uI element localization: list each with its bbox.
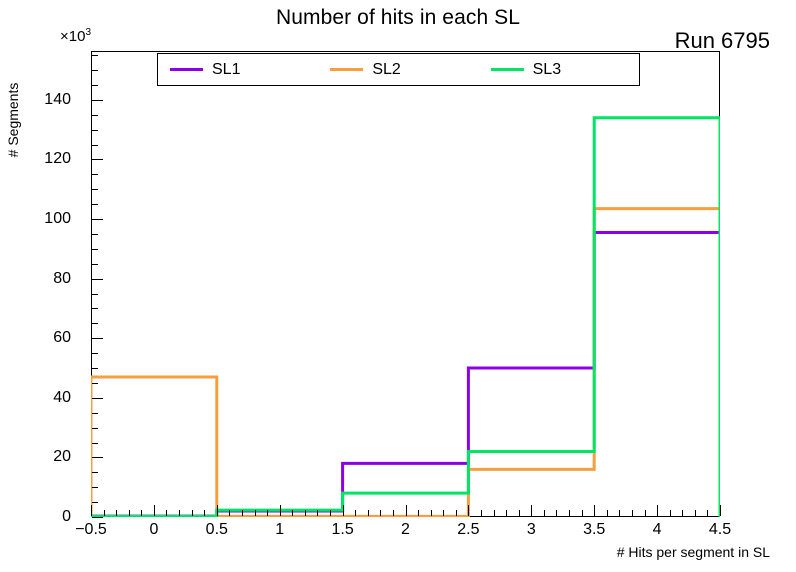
- y-axis-minor-tick: [92, 472, 98, 473]
- histogram-plot-area: [91, 51, 720, 517]
- x-axis-major-tick: [594, 505, 595, 516]
- y-axis-tick-label: 100: [44, 210, 71, 228]
- y-axis-tick-label: 120: [44, 150, 71, 168]
- y-axis-minor-tick: [92, 264, 98, 265]
- x-axis-tick-label: −0.5: [75, 521, 107, 539]
- y-axis-minor-tick: [92, 383, 98, 384]
- y-axis-major-tick: [92, 100, 103, 101]
- x-axis-minor-tick: [204, 510, 205, 516]
- x-axis-minor-tick: [267, 510, 268, 516]
- y-axis-major-tick: [92, 219, 103, 220]
- x-axis-major-tick: [406, 505, 407, 516]
- x-axis-major-tick: [343, 505, 344, 516]
- y-axis-minor-tick: [92, 502, 98, 503]
- y-axis-minor-tick: [92, 70, 98, 71]
- y-axis-tick-label: 60: [53, 329, 71, 347]
- y-axis-minor-tick: [92, 443, 98, 444]
- x-axis-major-tick: [720, 505, 721, 516]
- x-axis-minor-tick: [179, 510, 180, 516]
- x-axis-minor-tick: [141, 510, 142, 516]
- x-axis-minor-tick: [670, 510, 671, 516]
- x-axis-title: # Hits per segment in SL: [617, 544, 770, 560]
- x-axis-minor-tick: [707, 510, 708, 516]
- x-axis-minor-tick: [494, 510, 495, 516]
- x-axis-minor-tick: [192, 510, 193, 516]
- histogram-series-sl2: [91, 209, 720, 517]
- x-axis-minor-tick: [242, 510, 243, 516]
- x-axis-major-tick: [91, 505, 92, 516]
- x-axis-minor-tick: [582, 510, 583, 516]
- y-axis-exponent: ×103: [60, 27, 91, 45]
- x-axis-minor-tick: [317, 510, 318, 516]
- y-axis-minor-tick: [92, 85, 98, 86]
- x-axis-tick-label: 2.5: [457, 521, 479, 539]
- y-axis-minor-tick: [92, 353, 98, 354]
- x-axis-major-tick: [531, 505, 532, 516]
- y-axis-minor-tick: [92, 204, 98, 205]
- legend-entry-sl1[interactable]: SL1: [158, 62, 318, 78]
- x-axis-tick-label: 4: [653, 521, 662, 539]
- legend-entry-sl3[interactable]: SL3: [479, 62, 639, 78]
- y-axis-minor-tick: [92, 174, 98, 175]
- x-axis-tick-label: 2: [401, 521, 410, 539]
- legend-swatch-sl2: [330, 68, 363, 71]
- histogram-series-sl1: [91, 232, 720, 517]
- x-axis-major-tick: [657, 505, 658, 516]
- y-axis-exponent-base: ×10: [60, 28, 85, 45]
- y-axis-minor-tick: [92, 323, 98, 324]
- x-axis-minor-tick: [229, 510, 230, 516]
- x-axis-minor-tick: [632, 510, 633, 516]
- x-axis-minor-tick: [292, 510, 293, 516]
- y-axis-tick-label: 140: [44, 91, 71, 109]
- x-axis-minor-tick: [255, 510, 256, 516]
- y-axis-major-tick: [92, 517, 103, 518]
- x-axis-minor-tick: [355, 510, 356, 516]
- y-axis-minor-tick: [92, 115, 98, 116]
- y-axis-minor-tick: [92, 189, 98, 190]
- x-axis-minor-tick: [645, 510, 646, 516]
- y-axis-minor-tick: [92, 428, 98, 429]
- y-axis-minor-tick: [92, 130, 98, 131]
- y-axis-tick-label: 40: [53, 389, 71, 407]
- legend: SL1 SL2 SL3: [157, 53, 640, 86]
- y-axis-minor-tick: [92, 368, 98, 369]
- x-axis-major-tick: [280, 505, 281, 516]
- x-axis-minor-tick: [481, 510, 482, 516]
- x-axis-minor-tick: [695, 510, 696, 516]
- x-axis-minor-tick: [519, 510, 520, 516]
- x-axis-minor-tick: [619, 510, 620, 516]
- y-axis-minor-tick: [92, 234, 98, 235]
- x-axis-major-tick: [468, 505, 469, 516]
- y-axis-minor-tick: [92, 145, 98, 146]
- y-axis-minor-tick: [92, 294, 98, 295]
- x-axis-minor-tick: [456, 510, 457, 516]
- y-axis-minor-tick: [92, 308, 98, 309]
- histogram-series-sl3: [91, 118, 720, 517]
- x-axis-minor-tick: [305, 510, 306, 516]
- x-axis-minor-tick: [682, 510, 683, 516]
- x-axis-minor-tick: [544, 510, 545, 516]
- y-axis-minor-tick: [92, 413, 98, 414]
- x-axis-minor-tick: [443, 510, 444, 516]
- legend-label-sl3: SL3: [533, 62, 561, 78]
- y-axis-major-tick: [92, 457, 103, 458]
- y-axis-exponent-power: 3: [85, 27, 91, 38]
- root-canvas: Number of hits in each SL Run 6795 ×103 …: [0, 0, 796, 572]
- x-axis-major-tick: [154, 505, 155, 516]
- y-axis-minor-tick: [92, 249, 98, 250]
- y-axis-tick-label: 20: [53, 448, 71, 466]
- x-axis-tick-label: 4.5: [709, 521, 731, 539]
- x-axis-tick-label: 0.5: [206, 521, 228, 539]
- y-axis-minor-tick: [92, 55, 98, 56]
- x-axis-minor-tick: [569, 510, 570, 516]
- x-axis-tick-label: 0: [149, 521, 158, 539]
- x-axis-minor-tick: [607, 510, 608, 516]
- legend-entry-sl2[interactable]: SL2: [318, 62, 478, 78]
- x-axis-tick-label: 3: [527, 521, 536, 539]
- y-axis-major-tick: [92, 398, 103, 399]
- x-axis-minor-tick: [129, 510, 130, 516]
- x-axis-tick-labels: −0.500.511.522.533.544.5: [0, 521, 796, 545]
- x-axis-tick-label: 1: [275, 521, 284, 539]
- x-axis-minor-tick: [116, 510, 117, 516]
- legend-swatch-sl3: [491, 68, 524, 71]
- x-axis-tick-label: 3.5: [583, 521, 605, 539]
- y-axis-tick-label: 80: [53, 270, 71, 288]
- x-axis-minor-tick: [506, 510, 507, 516]
- x-axis-major-tick: [217, 505, 218, 516]
- x-axis-minor-tick: [556, 510, 557, 516]
- y-axis-major-tick: [92, 159, 103, 160]
- x-axis-minor-tick: [330, 510, 331, 516]
- y-axis-major-tick: [92, 338, 103, 339]
- y-axis-minor-tick: [92, 487, 98, 488]
- x-axis-minor-tick: [104, 510, 105, 516]
- y-axis-tick-labels: 020406080100120140: [0, 51, 85, 518]
- x-axis-minor-tick: [380, 510, 381, 516]
- legend-label-sl1: SL1: [212, 62, 240, 78]
- legend-label-sl2: SL2: [372, 62, 400, 78]
- x-axis-tick-label: 1.5: [331, 521, 353, 539]
- x-axis-minor-tick: [393, 510, 394, 516]
- x-axis-minor-tick: [431, 510, 432, 516]
- y-axis-major-tick: [92, 279, 103, 280]
- legend-swatch-sl1: [170, 68, 203, 71]
- x-axis-minor-tick: [418, 510, 419, 516]
- x-axis-minor-tick: [166, 510, 167, 516]
- x-axis-minor-tick: [368, 510, 369, 516]
- chart-title: Number of hits in each SL: [0, 6, 796, 30]
